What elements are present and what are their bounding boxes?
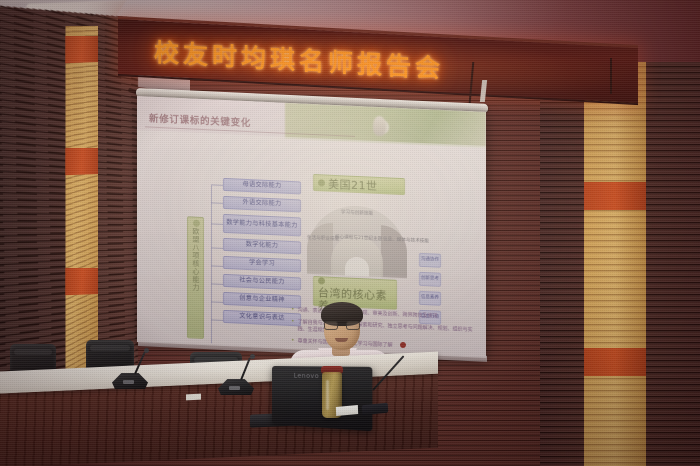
slide-tag: 创新思考 [419,272,441,287]
banner-cable [610,58,612,94]
microphone-capsule [144,348,149,353]
tree-connector [211,319,223,321]
paper-sheet [186,394,201,401]
slide-photo-figure [373,116,386,137]
bullet-dot-icon [193,220,200,227]
tree-connector [211,265,223,267]
tree-connector [211,202,223,204]
capability-item: 数学能力与科技基本能力 [223,214,301,237]
arch-left-label: 生活与职业技能 [307,236,331,243]
bullet-dot-icon [318,179,325,186]
slide-pill-us-text: 美国21世 [328,175,378,193]
slide-tag: 信息素养 [419,291,441,306]
right-wall-orange-block [584,348,646,376]
slide-tag: 沟通协作 [419,253,441,268]
microphone-capsule [250,354,255,359]
capability-item: 外语交际能力 [223,196,301,213]
capability-item: 母语交际能力 [223,178,301,195]
bullet-dot-icon [318,277,325,284]
arch-segment-right [381,225,407,278]
capability-item: 社会与公民能力 [223,274,301,291]
tree-connector [211,184,223,186]
arch-segment-left [307,222,333,275]
slide-pill-us: 美国21世 [313,174,405,195]
slide-vertical-label: 欧盟八项核心能力 [187,216,204,339]
capability-item: 数字化能力 [223,238,301,255]
microphone-button[interactable] [123,380,134,384]
microphone-button[interactable] [229,386,240,390]
left-wall-orange-block [65,36,98,63]
laptop-brand-logo: Lenovo [294,372,319,380]
tree-connector [211,283,223,285]
tree-connector [211,301,223,303]
presenter-mouth [335,338,348,342]
glasses-lens-left [324,321,338,330]
left-wall-wood-strip [65,26,98,391]
arch-diagram: 学习与创新技能 生活与职业技能 核心课程与21世纪主题 信息、媒体与技术技能 [301,195,413,278]
lecture-hall-photo: 校友时均琪名师报告会 新修订课标的关键变化 欧盟八项核心能力 [0,0,700,466]
glasses-icon [324,321,360,330]
capability-item: 学会学习 [223,256,301,273]
microphone-boom-capsule [400,342,406,348]
glasses-lens-right [346,321,360,330]
paper-sheet [336,405,358,416]
tea-jar-highlight [326,380,329,410]
right-wall-orange-block [584,182,646,210]
glasses-bridge [338,324,346,325]
tree-connector [211,223,223,225]
left-wall-orange-block [65,268,98,295]
tree-connector [211,247,223,249]
arch-right-label: 信息、媒体与技术技能 [383,237,407,244]
left-wall-orange-block [65,148,98,175]
banner-title: 校友时均琪名师报告会 [154,33,444,85]
slide-vertical-label-text: 欧盟八项核心能力 [191,227,201,291]
